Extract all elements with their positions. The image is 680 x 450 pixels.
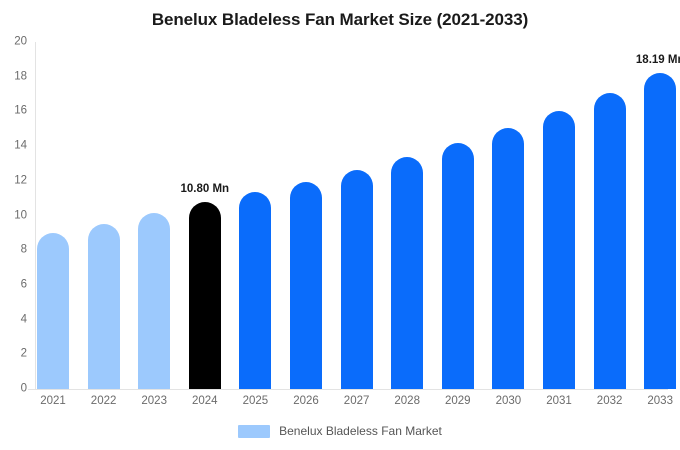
x-axis-label-2032: 2032 [597, 396, 623, 408]
y-axis-tick-20: 20 [14, 36, 36, 48]
x-axis-label-2022: 2022 [91, 396, 117, 408]
y-axis-tick-8: 8 [21, 244, 36, 256]
bar-2025[interactable] [239, 192, 271, 389]
x-axis-label-2033: 2033 [647, 396, 673, 408]
legend-swatch-benelux-bladeless-fan-market [238, 425, 270, 438]
x-axis-label-2023: 2023 [141, 396, 167, 408]
bar-2027[interactable] [341, 170, 373, 389]
chart-title: Benelux Bladeless Fan Market Size (2021-… [0, 10, 680, 30]
bar-2033[interactable] [644, 73, 676, 389]
bar-2029[interactable] [442, 143, 474, 389]
x-axis-label-2027: 2027 [344, 396, 370, 408]
x-axis-label-2031: 2031 [546, 396, 572, 408]
x-axis-label-2021: 2021 [40, 396, 66, 408]
y-axis-tick-6: 6 [21, 279, 36, 291]
bar-2030[interactable] [492, 128, 524, 389]
plot-area: 02468101214161820 [36, 42, 668, 389]
y-axis-tick-12: 12 [14, 175, 36, 187]
value-label-2024: 10.80 Mn [181, 184, 230, 196]
x-axis-line [28, 389, 668, 390]
bar-2024[interactable] [189, 202, 221, 389]
x-axis-label-2024: 2024 [192, 396, 218, 408]
bar-2023[interactable] [138, 213, 170, 389]
bar-2026[interactable] [290, 182, 322, 390]
bar-2022[interactable] [88, 224, 120, 389]
y-axis-tick-0: 0 [21, 383, 36, 395]
x-axis-label-2026: 2026 [293, 396, 319, 408]
y-axis-tick-4: 4 [21, 314, 36, 326]
bar-2021[interactable] [37, 233, 69, 389]
y-axis-tick-14: 14 [14, 140, 36, 152]
y-axis-tick-16: 16 [14, 106, 36, 118]
y-axis-tick-2: 2 [21, 349, 36, 361]
x-axis-label-2025: 2025 [243, 396, 269, 408]
value-label-2033: 18.19 Mn [636, 55, 680, 67]
legend-label-benelux-bladeless-fan-market: Benelux Bladeless Fan Market [279, 424, 442, 438]
y-axis-tick-10: 10 [14, 210, 36, 222]
y-axis-tick-18: 18 [14, 71, 36, 83]
bar-2032[interactable] [594, 93, 626, 389]
bar-chart: Benelux Bladeless Fan Market Size (2021-… [0, 0, 680, 450]
chart-legend: Benelux Bladeless Fan Market [0, 424, 680, 438]
bar-2031[interactable] [543, 111, 575, 389]
x-axis-label-2029: 2029 [445, 396, 471, 408]
x-axis-label-2030: 2030 [496, 396, 522, 408]
bar-2028[interactable] [391, 157, 423, 389]
x-axis-label-2028: 2028 [394, 396, 420, 408]
